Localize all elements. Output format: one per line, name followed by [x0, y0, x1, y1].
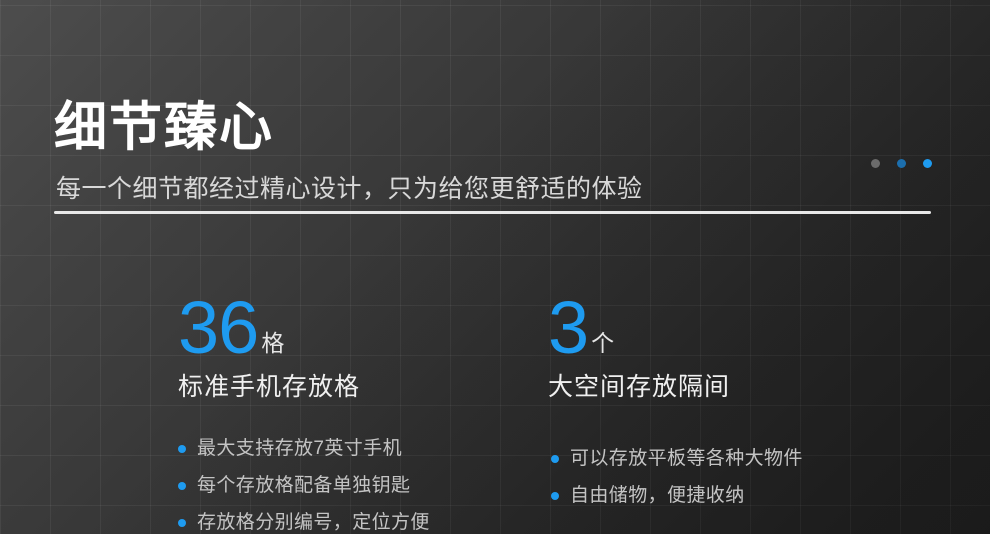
list-item-label: 自由储物，便捷收纳 [570, 486, 745, 505]
stat-number-line: 3 个 [548, 286, 730, 362]
bullet-dot-icon [551, 492, 559, 500]
bullet-dot-icon [178, 445, 186, 453]
stat-number: 36 [178, 294, 258, 362]
list-item: 可以存放平板等各种大物件 [551, 440, 803, 477]
feature-list-large-compartments: 可以存放平板等各种大物件 自由储物，便捷收纳 [551, 440, 803, 514]
bullet-dot-icon [178, 519, 186, 527]
stat-number-line: 36 格 [178, 286, 360, 362]
stats-row: 36 格 标准手机存放格 3 个 大空间存放隔间 [0, 286, 990, 526]
list-item: 存放格分别编号，定位方便 [178, 504, 430, 534]
list-item-label: 最大支持存放7英寸手机 [197, 439, 402, 458]
stat-block-large-compartments: 3 个 大空间存放隔间 [548, 286, 730, 403]
list-item-label: 存放格分别编号，定位方便 [197, 513, 430, 532]
list-item-label: 每个存放格配备单独钥匙 [197, 476, 410, 495]
list-item: 自由储物，便捷收纳 [551, 477, 803, 514]
feature-list-phone-slots: 最大支持存放7英寸手机 每个存放格配备单独钥匙 存放格分别编号，定位方便 [178, 430, 430, 534]
stat-label: 大空间存放隔间 [548, 367, 730, 403]
pagination-dot-3[interactable] [923, 159, 932, 168]
stat-number: 3 [548, 294, 588, 362]
stat-unit: 格 [261, 332, 284, 362]
list-item: 最大支持存放7英寸手机 [178, 430, 430, 467]
stat-block-phone-slots: 36 格 标准手机存放格 [178, 286, 360, 403]
bullet-dot-icon [551, 455, 559, 463]
page-subtitle: 每一个细节都经过精心设计，只为给您更舒适的体验 [56, 169, 643, 205]
pagination-dots[interactable] [871, 159, 932, 168]
pagination-dot-2[interactable] [897, 159, 906, 168]
pagination-dot-1[interactable] [871, 159, 880, 168]
page-title: 细节臻心 [54, 98, 274, 157]
slide-content: 细节臻心 每一个细节都经过精心设计，只为给您更舒适的体验 36 格 标准手机存放… [0, 0, 990, 534]
stat-label: 标准手机存放格 [178, 367, 360, 403]
bullet-dot-icon [178, 482, 186, 490]
detail-feature-slide: 细节臻心 每一个细节都经过精心设计，只为给您更舒适的体验 36 格 标准手机存放… [0, 0, 990, 534]
stat-unit: 个 [591, 332, 614, 362]
section-divider [54, 211, 931, 214]
list-item-label: 可以存放平板等各种大物件 [570, 449, 803, 468]
list-item: 每个存放格配备单独钥匙 [178, 467, 430, 504]
